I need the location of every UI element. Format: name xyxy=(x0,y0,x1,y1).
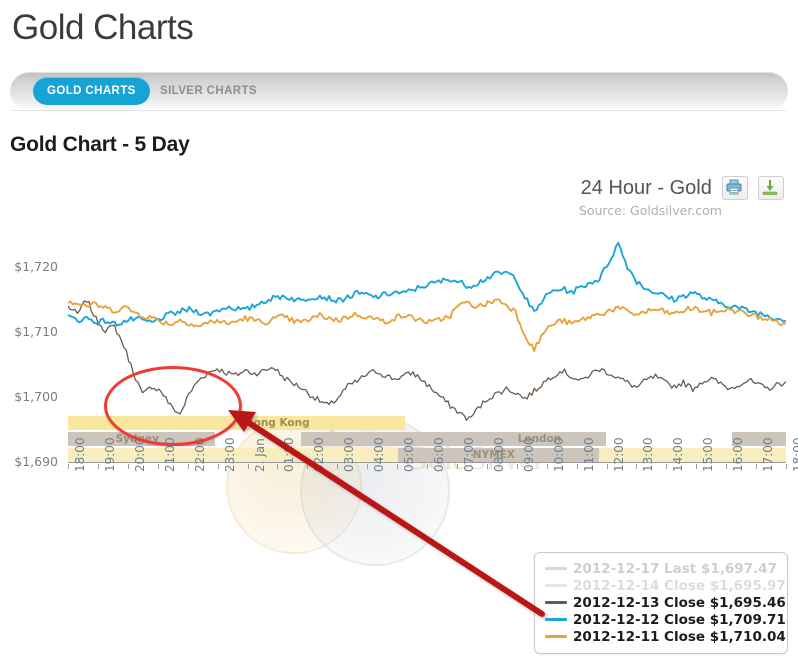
x-axis-tick xyxy=(786,464,787,469)
x-tick-label: 02:00 xyxy=(312,437,326,472)
y-tick-label: $1,690 xyxy=(14,454,58,469)
y-tick-label: $1,720 xyxy=(14,259,58,274)
x-tick-label: 06:00 xyxy=(432,437,446,472)
x-axis-tick xyxy=(98,464,99,469)
legend-item-label: 2012-12-17 Last $1,697.47 xyxy=(573,561,777,577)
x-tick-label: 12:00 xyxy=(612,437,626,472)
download-icon[interactable] xyxy=(758,176,784,200)
x-tick-label: 03:00 xyxy=(342,437,356,472)
x-tick-label: 05:00 xyxy=(402,437,416,472)
y-tick-label: $1,710 xyxy=(14,324,58,339)
x-tick-label: 14:00 xyxy=(671,437,685,472)
x-axis-tick xyxy=(696,464,697,469)
x-tick-label: 08:00 xyxy=(492,437,506,472)
legend-item[interactable]: 2012-12-11 Close $1,710.04 xyxy=(545,629,786,646)
x-axis-tick xyxy=(517,464,518,469)
legend-item[interactable]: 2012-12-12 Close $1,709.71 xyxy=(545,612,786,629)
x-tick-label: 15:00 xyxy=(701,437,715,472)
x-axis: 18:0019:0020:0021:0022:0023:002. Jan01:0… xyxy=(68,464,786,534)
x-tick-label: 18:00 xyxy=(73,437,87,472)
x-axis-tick xyxy=(337,464,338,469)
tab-bar-underline xyxy=(12,110,786,111)
tab-bar: GOLD CHARTS SILVER CHARTS xyxy=(10,72,788,110)
x-tick-label: 18:00 xyxy=(791,437,798,472)
x-axis-tick xyxy=(367,464,368,469)
x-axis-tick xyxy=(188,464,189,469)
x-axis-tick xyxy=(666,464,667,469)
tab-silver-charts[interactable]: SILVER CHARTS xyxy=(146,77,271,105)
legend-item[interactable]: 2012-12-14 Close $1,695.97 xyxy=(545,578,786,595)
x-tick-label: 10:00 xyxy=(552,437,566,472)
price-series-line xyxy=(68,300,786,352)
x-axis-tick xyxy=(726,464,727,469)
page-title: Gold Charts xyxy=(12,6,193,50)
x-axis-tick xyxy=(487,464,488,469)
x-axis-tick xyxy=(607,464,608,469)
x-tick-label: 2. Jan xyxy=(253,438,267,472)
x-tick-label: 23:00 xyxy=(223,437,237,472)
x-axis-tick xyxy=(636,464,637,469)
legend-color-swatch xyxy=(545,635,567,638)
chart-title: 24 Hour - Gold xyxy=(581,177,712,200)
x-axis-tick xyxy=(218,464,219,469)
x-tick-label: 13:00 xyxy=(641,437,655,472)
highlight-ellipse xyxy=(104,366,242,446)
chart-source: Source: Goldsilver.com xyxy=(579,203,784,218)
x-axis-tick xyxy=(547,464,548,469)
legend-color-swatch xyxy=(545,584,567,587)
y-tick-label: $1,700 xyxy=(14,389,58,404)
x-tick-label: 01:00 xyxy=(282,437,296,472)
x-axis-tick xyxy=(128,464,129,469)
chart-legend: 2012-12-17 Last $1,697.472012-12-14 Clos… xyxy=(534,552,788,654)
x-axis-tick xyxy=(397,464,398,469)
y-axis: $1,720 $1,710 $1,700 $1,690 xyxy=(0,168,68,528)
legend-item[interactable]: 2012-12-17 Last $1,697.47 xyxy=(545,561,777,578)
x-axis-tick xyxy=(427,464,428,469)
x-axis-tick xyxy=(248,464,249,469)
x-axis-tick xyxy=(577,464,578,469)
chart-header: 24 Hour - Gold Source: Goldsilver.com xyxy=(579,176,784,218)
legend-color-swatch xyxy=(545,601,567,604)
legend-item-label: 2012-12-12 Close $1,709.71 xyxy=(573,612,786,628)
legend-item-label: 2012-12-14 Close $1,695.97 xyxy=(573,578,786,594)
print-icon[interactable] xyxy=(722,176,748,200)
x-tick-label: 09:00 xyxy=(522,437,536,472)
x-axis-tick xyxy=(277,464,278,469)
legend-color-swatch xyxy=(545,567,567,570)
x-tick-label: 11:00 xyxy=(582,437,596,472)
x-tick-label: 04:00 xyxy=(372,437,386,472)
x-axis-tick xyxy=(68,464,69,469)
x-axis-tick xyxy=(756,464,757,469)
x-axis-tick xyxy=(457,464,458,469)
legend-color-swatch xyxy=(545,618,567,621)
section-title: Gold Chart - 5 Day xyxy=(10,133,190,157)
x-tick-label: 19:00 xyxy=(103,437,117,472)
x-tick-label: 17:00 xyxy=(761,437,775,472)
x-tick-label: 16:00 xyxy=(731,437,745,472)
x-tick-label: 07:00 xyxy=(462,437,476,472)
legend-item[interactable]: 2012-12-13 Close $1,695.46 xyxy=(545,595,786,612)
x-axis-tick xyxy=(158,464,159,469)
x-axis-tick xyxy=(307,464,308,469)
tab-gold-charts[interactable]: GOLD CHARTS xyxy=(33,77,150,105)
legend-item-label: 2012-12-11 Close $1,710.04 xyxy=(573,629,786,645)
legend-item-label: 2012-12-13 Close $1,695.46 xyxy=(573,595,786,611)
